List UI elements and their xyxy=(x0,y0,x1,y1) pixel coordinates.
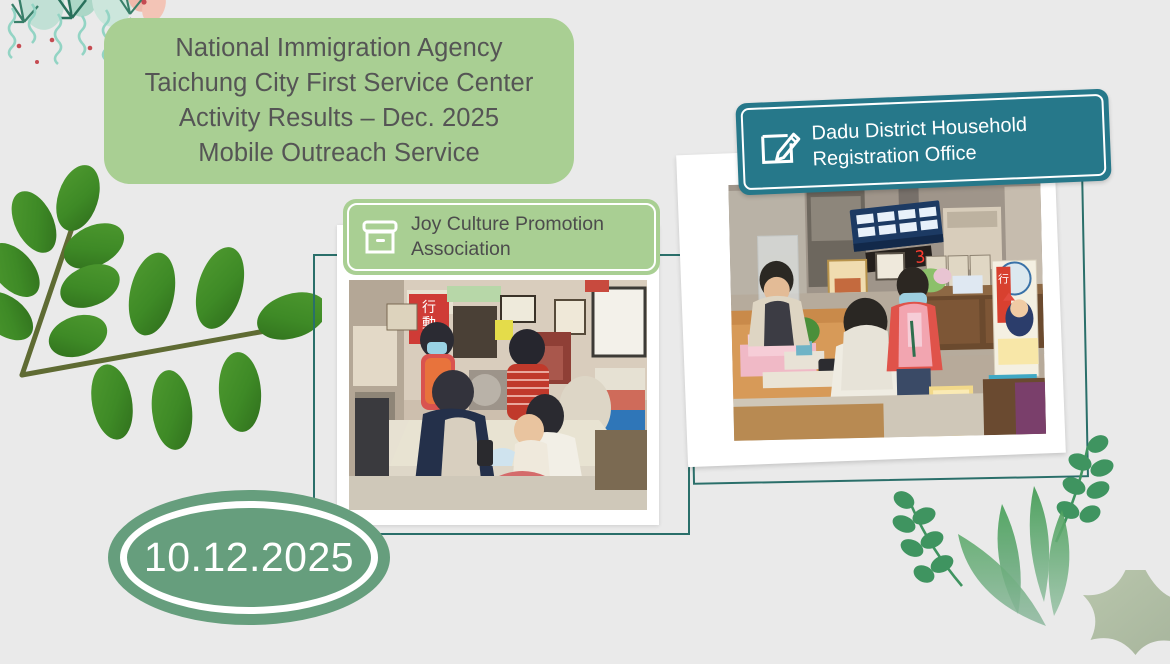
date-badge: 10.12.2025 xyxy=(108,490,390,625)
page-title-line-3: Activity Results – Dec. 2025 xyxy=(179,101,499,136)
svg-text:行: 行 xyxy=(998,273,1009,286)
archive-box-icon xyxy=(361,220,399,254)
page-title-line-2: Taichung City First Service Center xyxy=(145,66,534,101)
label-joy-culture-promotion-association[interactable]: Joy Culture Promotion Association xyxy=(343,199,660,275)
joy-culture-promotion-association-photo: 行 動 xyxy=(349,280,647,510)
label-dadu-district-text: Dadu District Household Registration Off… xyxy=(811,109,1104,173)
label-dadu-district-household-registration-office[interactable]: Dadu District Household Registration Off… xyxy=(735,89,1111,196)
date-badge-text: 10.12.2025 xyxy=(144,534,354,581)
green-leaf-branch-icon xyxy=(0,160,322,460)
label-joy-culture-text: Joy Culture Promotion Association xyxy=(411,212,654,262)
svg-text:3: 3 xyxy=(914,247,926,268)
page-title: National Immigration Agency Taichung Cit… xyxy=(104,18,574,184)
pencil-square-icon xyxy=(757,127,803,169)
dadu-district-household-registration-office-photo: 2 3 xyxy=(728,178,1046,441)
slide-canvas: National Immigration Agency Taichung Cit… xyxy=(0,0,1170,664)
svg-text:行: 行 xyxy=(422,300,436,316)
page-title-line-4: Mobile Outreach Service xyxy=(198,136,480,171)
page-title-line-1: National Immigration Agency xyxy=(175,31,502,66)
